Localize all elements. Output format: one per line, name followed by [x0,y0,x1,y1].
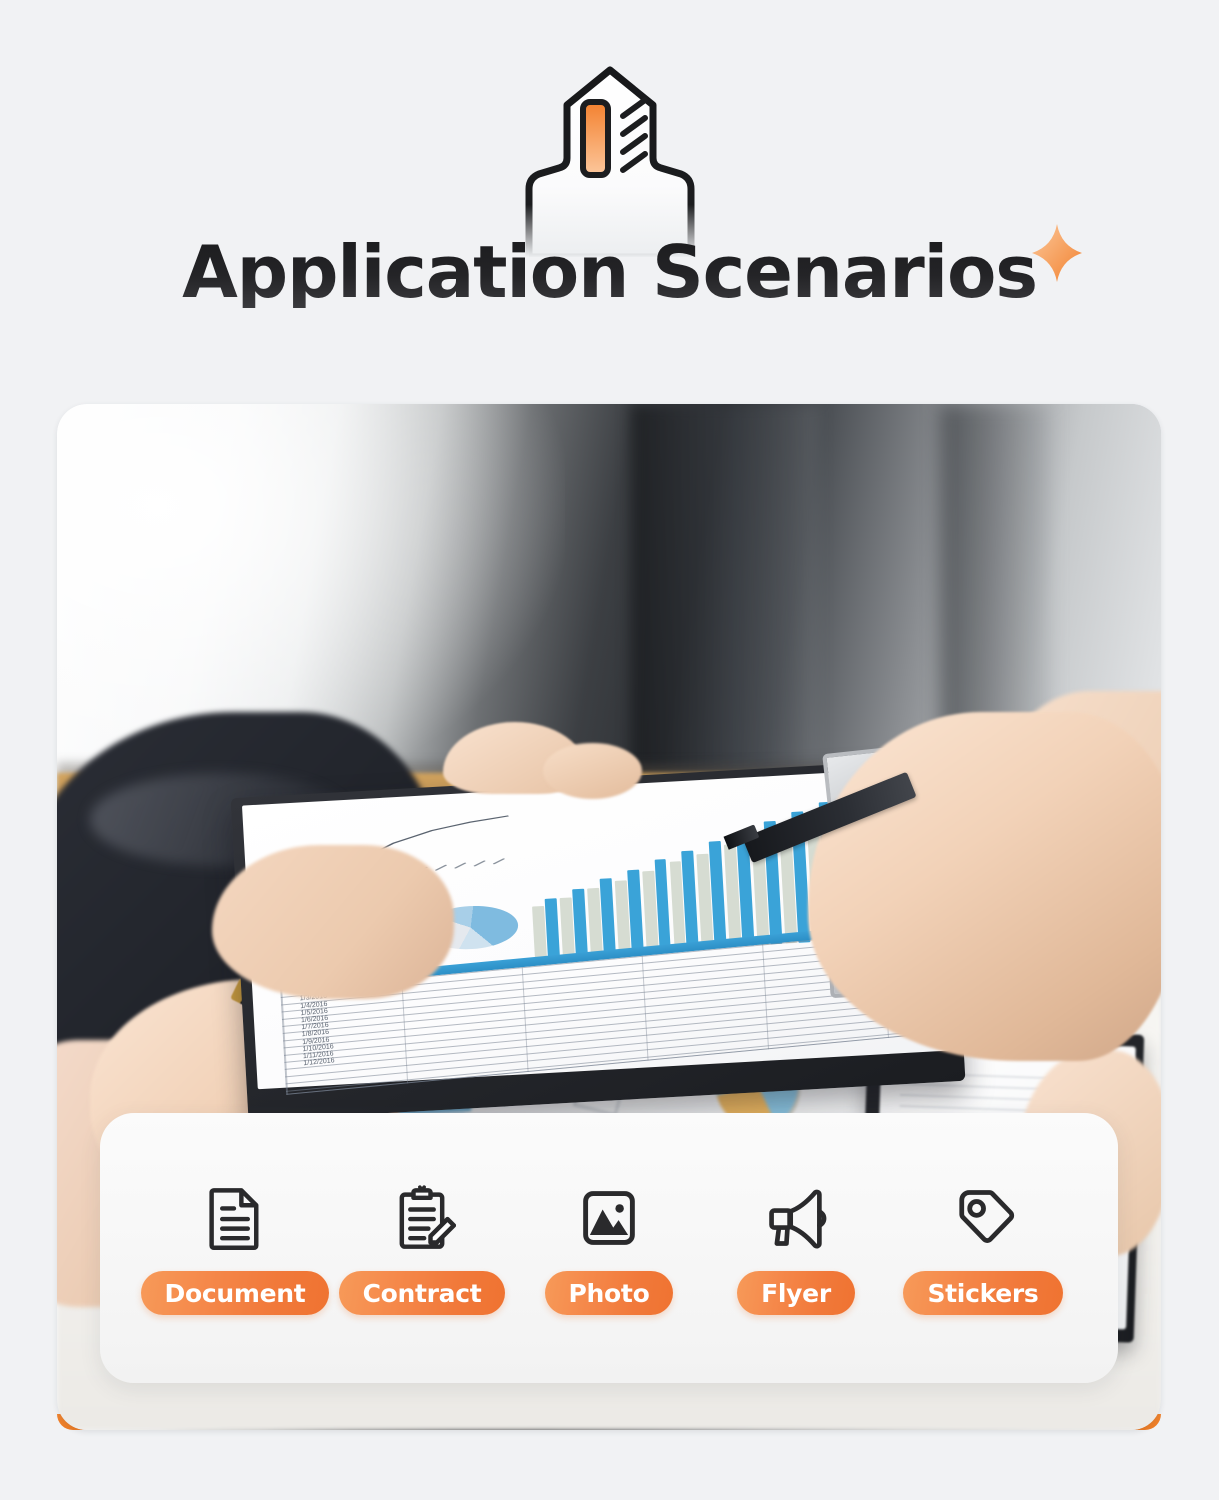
clipboard-pencil-icon [385,1181,459,1255]
megaphone-icon [759,1181,833,1255]
image-icon [572,1181,646,1255]
thumb-over-clipboard [543,743,642,799]
building-tower-icon [495,62,725,257]
sparkle-icon [1030,222,1084,284]
badge-label-document[interactable]: Document [141,1271,330,1315]
badge-label-flyer[interactable]: Flyer [737,1271,855,1315]
page-title-text: Application Scenarios [182,236,1037,308]
badge-item-stickers[interactable]: Stickers [894,1181,1072,1315]
document-icon [198,1181,272,1255]
badge-label-stickers[interactable]: Stickers [903,1271,1062,1315]
badge-label-contract[interactable]: Contract [339,1271,506,1315]
header: Application Scenarios [0,0,1219,360]
badge-item-photo[interactable]: Photo [520,1181,698,1315]
badge-item-document[interactable]: Document [146,1181,324,1315]
scenario-badge-panel: Document Contract [100,1113,1118,1383]
badge-item-flyer[interactable]: Flyer [707,1181,885,1315]
badge-label-photo[interactable]: Photo [545,1271,674,1315]
badge-item-contract[interactable]: Contract [333,1181,511,1315]
application-scenarios-page: Application Scenarios [0,0,1219,1500]
price-tag-icon [946,1181,1020,1255]
hand-left-holding-clipboard [212,845,455,999]
